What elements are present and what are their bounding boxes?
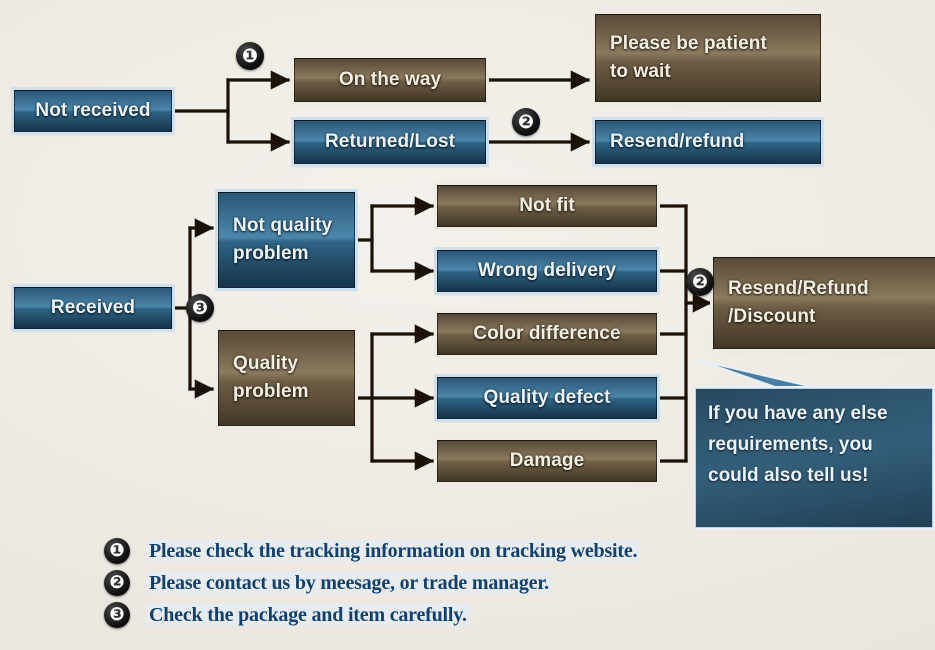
node-received-label: Received (15, 294, 171, 322)
flowchart-canvas: Not received On the way Returned/Lost Pl… (0, 0, 935, 650)
node-please-be-patient[interactable]: Please be patient to wait (595, 14, 821, 102)
marker-3-received: ❸ (186, 294, 214, 322)
node-damage[interactable]: Damage (437, 440, 657, 482)
node-resend-refund-label: Resend/refund (596, 128, 820, 156)
marker-2-outcome-label: ❷ (692, 273, 708, 292)
legend-text-2: Please contact us by meesage, or trade m… (146, 572, 552, 595)
node-color-difference-label: Color difference (438, 320, 656, 348)
node-quality-defect-label: Quality defect (438, 384, 656, 412)
node-please-be-patient-line2: to wait (596, 58, 820, 86)
legend-item-3: ❸ Check the package and item carefully. (104, 602, 640, 628)
node-returned-lost[interactable]: Returned/Lost (294, 120, 486, 164)
node-on-the-way[interactable]: On the way (294, 58, 486, 102)
node-wrong-delivery-label: Wrong delivery (438, 257, 656, 285)
node-quality-problem-line1: Quality (219, 350, 354, 378)
speech-bubble: If you have any else requirements, you c… (690, 352, 935, 532)
legend-text-1: Please check the tracking information on… (146, 540, 640, 563)
marker-2-top: ❷ (512, 108, 540, 136)
node-on-the-way-label: On the way (295, 66, 485, 94)
node-returned-lost-label: Returned/Lost (295, 128, 485, 156)
node-not-fit[interactable]: Not fit (437, 185, 657, 227)
legend-marker-1-label: ❶ (109, 542, 124, 560)
marker-2-outcome: ❷ (686, 268, 714, 296)
legend-item-2: ❷ Please contact us by meesage, or trade… (104, 570, 640, 596)
legend-marker-1: ❶ (104, 538, 130, 564)
marker-1-top-label: ❶ (242, 47, 258, 66)
speech-bubble-body: If you have any else requirements, you c… (695, 388, 933, 528)
node-please-be-patient-line1: Please be patient (596, 30, 820, 58)
node-not-fit-label: Not fit (438, 192, 656, 220)
marker-2-top-label: ❷ (518, 113, 534, 132)
marker-3-received-label: ❸ (192, 299, 208, 318)
speech-bubble-line-1: If you have any else (708, 399, 920, 430)
marker-1-top: ❶ (236, 42, 264, 70)
node-received[interactable]: Received (14, 287, 172, 329)
node-resend-refund-discount[interactable]: Resend/Refund /Discount (713, 257, 935, 349)
speech-bubble-line-2: requirements, you (708, 430, 920, 461)
node-not-received-label: Not received (15, 97, 171, 125)
node-quality-problem-line2: problem (219, 378, 354, 406)
node-not-quality-problem[interactable]: Not quality problem (218, 192, 355, 288)
node-resend-refund-discount-line2: /Discount (714, 303, 935, 331)
node-resend-refund-discount-line1: Resend/Refund (714, 275, 935, 303)
node-not-quality-problem-line1: Not quality (219, 212, 354, 240)
node-color-difference[interactable]: Color difference (437, 313, 657, 355)
node-resend-refund[interactable]: Resend/refund (595, 120, 821, 164)
node-wrong-delivery[interactable]: Wrong delivery (437, 250, 657, 292)
node-not-received[interactable]: Not received (14, 90, 172, 132)
legend-text-3: Check the package and item carefully. (146, 604, 470, 627)
speech-bubble-line-3: could also tell us! (708, 461, 920, 492)
legend-marker-3: ❸ (104, 602, 130, 628)
node-quality-problem[interactable]: Quality problem (218, 330, 355, 426)
legend-marker-2-label: ❷ (109, 574, 124, 592)
node-not-quality-problem-line2: problem (219, 240, 354, 268)
node-damage-label: Damage (438, 447, 656, 475)
node-quality-defect[interactable]: Quality defect (437, 377, 657, 419)
legend-marker-2: ❷ (104, 570, 130, 596)
legend: ❶ Please check the tracking information … (104, 538, 640, 634)
legend-marker-3-label: ❸ (109, 606, 124, 624)
legend-item-1: ❶ Please check the tracking information … (104, 538, 640, 564)
